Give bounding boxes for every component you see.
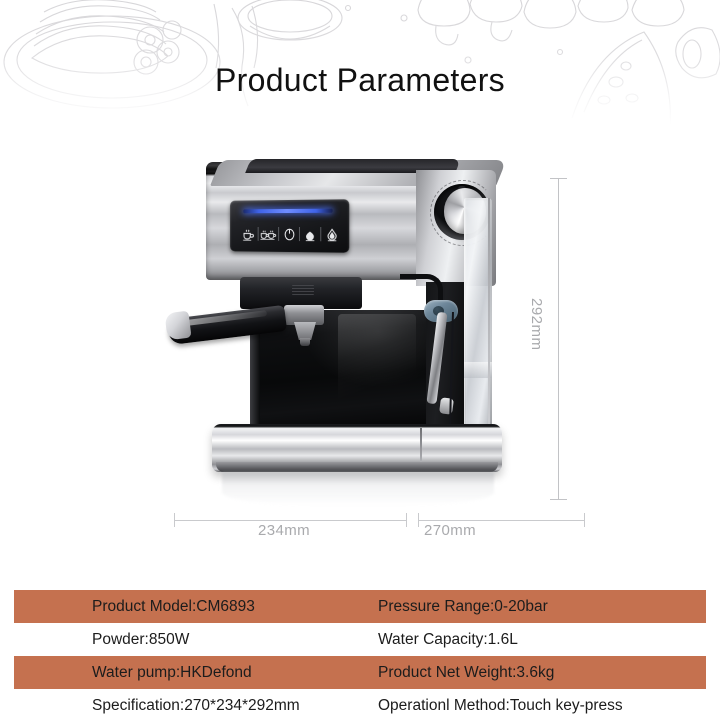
product-parameters-page: Product Parameters bbox=[0, 0, 720, 720]
spec-operation-method: Operationl Method:Touch key-press bbox=[360, 697, 706, 715]
spec-power: Powder:850W bbox=[14, 631, 360, 649]
power-icon[interactable] bbox=[281, 225, 298, 243]
water-drop-icon[interactable] bbox=[323, 225, 341, 243]
brew-spout-tip bbox=[300, 338, 310, 346]
spec-net-weight: Product Net Weight:3.6kg bbox=[360, 664, 706, 682]
water-tank-seam bbox=[488, 198, 490, 430]
table-row: Water pump:HKDefond Product Net Weight:3… bbox=[14, 656, 706, 689]
table-row: Product Model:CM6893 Pressure Range:0-20… bbox=[14, 590, 706, 623]
table-row: Specification:270*234*292mm Operationl M… bbox=[14, 689, 706, 720]
base-front-lip bbox=[216, 462, 498, 472]
spec-specification: Specification:270*234*292mm bbox=[14, 697, 360, 715]
product-photo: 292mm 234mm 270mm bbox=[0, 130, 720, 560]
width-dimension-label: 234mm bbox=[258, 522, 310, 539]
table-row: Powder:850W Water Capacity:1.6L bbox=[14, 623, 706, 656]
divider bbox=[299, 227, 300, 241]
spec-pressure-range: Pressure Range:0-20bar bbox=[360, 598, 706, 616]
control-panel[interactable] bbox=[230, 199, 349, 253]
espresso-machine bbox=[188, 162, 518, 492]
page-title: Product Parameters bbox=[0, 62, 720, 99]
divider bbox=[257, 227, 258, 241]
surface-reflection bbox=[222, 472, 494, 506]
height-dimension-label: 292mm bbox=[528, 298, 545, 351]
depth-dimension-label: 270mm bbox=[424, 522, 476, 539]
steam-icon[interactable] bbox=[302, 225, 319, 243]
divider bbox=[321, 227, 322, 241]
single-cup-icon[interactable] bbox=[240, 225, 256, 243]
handle-highlight bbox=[181, 310, 267, 326]
group-head-vents bbox=[292, 285, 314, 295]
led-indicator-bar bbox=[243, 209, 332, 214]
divider bbox=[278, 227, 279, 241]
height-dimension-line bbox=[548, 178, 570, 500]
width-dimension-lines bbox=[150, 513, 570, 527]
spec-water-pump: Water pump:HKDefond bbox=[14, 664, 360, 682]
spec-table: Product Model:CM6893 Pressure Range:0-20… bbox=[14, 590, 706, 720]
double-cup-icon[interactable] bbox=[260, 225, 277, 243]
control-button-row bbox=[240, 224, 341, 244]
spec-product-model: Product Model:CM6893 bbox=[14, 598, 360, 616]
spec-water-capacity: Water Capacity:1.6L bbox=[360, 631, 706, 649]
body-gloss-highlight bbox=[338, 314, 416, 410]
portafilter-end-cap bbox=[164, 311, 191, 341]
